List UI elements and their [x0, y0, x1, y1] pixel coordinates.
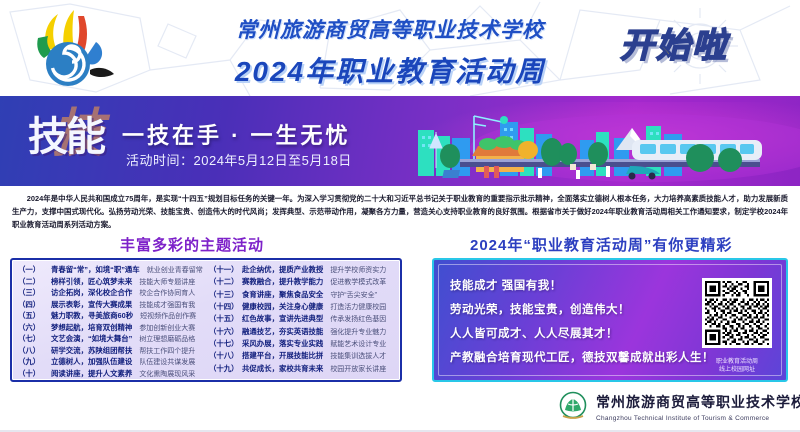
qr-caption: 职业教育活动周 线上校园网址 — [702, 358, 772, 374]
activity-index: （二） — [18, 277, 48, 288]
school-name: 常州旅游商贸高等职业技术学校 — [180, 14, 600, 44]
activity-item: （十五）红色故事，宣讲先进典型传承发扬红色基因 — [209, 314, 394, 326]
qr-block[interactable]: 职业教育活动周 线上校园网址 — [702, 278, 772, 374]
activity-title: 梦想起航，培育双创精神 — [51, 323, 132, 334]
activity-title: 阅读讲座，提升人文素养 — [51, 369, 132, 380]
activities-column-left: （一）青春留“常”，如境“职”通车就业创业青春留常（二）榜样引领，匠心筑梦未来技… — [18, 265, 203, 375]
footer: 常州旅游商贸高等职业技术学校 Changzhou Technical Insti… — [0, 384, 800, 432]
slogan-line: 产教融合培育现代工匠，德技双馨成就出彩人生！ — [450, 346, 680, 370]
activity-title: 榜样引领，匠心筑梦未来 — [51, 277, 132, 288]
activity-subtitle: 促进教学模式改革 — [330, 278, 386, 289]
activities-column-right: （十一）赴企纳优，提质产业教授提升学校师资实力（十二）赛教融合，提升教学能力促进… — [209, 265, 394, 375]
header: 常州旅游商贸高等职业技术学校 2024年职业教育活动周 开始啦 — [0, 0, 800, 96]
banner-date: 活动时间：2024年5月12日至5月18日 — [126, 150, 352, 169]
activity-title: 共促成长，家校共育未来 — [242, 364, 323, 375]
activity-title: 文艺会演，“如境大舞台” — [51, 334, 132, 345]
activity-subtitle: 队伍建设共谋发展 — [139, 358, 195, 369]
skill-badge: 技 技能 — [24, 104, 132, 182]
activity-item: （十九）共促成长，家校共育未来校园开放家长讲座 — [209, 364, 394, 376]
qr-caption-line2: 线上校园网址 — [702, 366, 772, 374]
activity-item: （一）青春留“常”，如境“职”通车就业创业青春留常 — [18, 265, 203, 277]
activity-index: （四） — [18, 300, 48, 311]
activity-item: （八）研学交流，苏陕组团帮扶帮扶工作四个提升 — [18, 346, 203, 358]
activity-title: 立德树人，加强队伍建设 — [51, 357, 132, 368]
footer-school-name-en: Changzhou Technical Institute of Tourism… — [596, 415, 800, 422]
skill-badge-text: 技能 — [28, 118, 104, 156]
activity-index: （五） — [18, 311, 48, 322]
activity-subtitle: 树立理想磨砺品格 — [139, 335, 195, 346]
start-badge: 开始啦 — [620, 18, 728, 67]
activity-title: 展示表彰，宣传大赛成果 — [51, 300, 132, 311]
event-title: 2024年职业教育活动周 — [180, 50, 600, 90]
activity-title: 青春留“常”，如境“职”通车 — [51, 265, 140, 276]
activity-item: （七）文艺会演，“如境大舞台”树立理想磨砺品格 — [18, 334, 203, 346]
poster-root: 常州旅游商贸高等职业技术学校 2024年职业教育活动周 开始啦 技 技能 一技在… — [0, 0, 800, 432]
activity-subtitle: 校企合作协同育人 — [139, 289, 195, 300]
activity-item: （十八）搭建平台，开展技能比拼技能集训选拔人才 — [209, 351, 394, 363]
activity-subtitle: 技能大师专题讲座 — [139, 278, 195, 289]
activity-subtitle: 校园开放家长讲座 — [330, 365, 386, 376]
activity-subtitle: 帮扶工作四个提升 — [139, 347, 195, 358]
slogan-line: 劳动光荣，技能宝贵，创造伟大！ — [450, 298, 680, 322]
activity-item: （十七）采风办展，落实专业实践赋能艺术设计专业 — [209, 339, 394, 351]
activity-item: （十三）食育讲座，聚焦食品安全守护“舌尖安全” — [209, 290, 394, 302]
activity-item: （九）立德树人，加强队伍建设队伍建设共谋发展 — [18, 357, 203, 369]
qr-code-icon[interactable] — [702, 278, 772, 348]
activity-item: （十）阅读讲座，提升人文素养文化熏陶展现风采 — [18, 369, 203, 381]
activity-item: （三）访企拓岗，深化校企合作校企合作协同育人 — [18, 288, 203, 300]
header-titles: 常州旅游商贸高等职业技术学校 2024年职业教育活动周 — [180, 14, 600, 90]
activity-index: （十五） — [209, 314, 239, 325]
slogan-line: 技能成才 强国有我！ — [450, 274, 680, 298]
activity-subtitle: 短视频作品创作赛 — [140, 312, 196, 323]
activity-item: （五）魅力职教，寻美旅商60秒短视频作品创作赛 — [18, 311, 203, 323]
activity-subtitle: 技能集训选拔人才 — [330, 352, 386, 363]
right-section-heading: 2024年“职业教育活动周”有你更精彩 — [470, 234, 732, 255]
activity-item: （四）展示表彰，宣传大赛成果技能成才强国有我 — [18, 300, 203, 312]
activity-title: 访企拓岗，深化校企合作 — [51, 288, 132, 299]
activity-subtitle: 强化提升专业魅力 — [330, 328, 386, 339]
activity-subtitle: 技能成才强国有我 — [139, 301, 195, 312]
activity-index: （十二） — [209, 277, 239, 288]
footer-school-name-cn: 常州旅游商贸高等职业技术学校 — [596, 392, 800, 412]
activity-title: 搭建平台，开展技能比拼 — [242, 351, 323, 362]
activity-subtitle: 传承发扬红色基因 — [330, 315, 386, 326]
hero-banner: 技 技能 一技在手 · 一生无忧 活动时间：2024年5月12日至5月18日 — [0, 96, 800, 186]
activity-subtitle: 参加创新创业大赛 — [139, 324, 195, 335]
activity-index: （三） — [18, 288, 48, 299]
colorful-hand-spiral-logo-icon — [22, 8, 126, 92]
city-skyline-train-illustration-icon — [400, 104, 800, 186]
slogan-line: 人人皆可成才、人人尽展其才！ — [450, 322, 680, 346]
activity-index: （一） — [18, 265, 48, 276]
activity-subtitle: 打造活力健康校园 — [330, 303, 386, 314]
activity-index: （六） — [18, 323, 48, 334]
activity-index: （十一） — [209, 265, 239, 276]
activity-index: （十） — [18, 369, 48, 380]
activities-list-box: （一）青春留“常”，如境“职”通车就业创业青春留常（二）榜样引领，匠心筑梦未来技… — [10, 258, 402, 382]
slogan-box: 技能成才 强国有我！劳动光荣，技能宝贵，创造伟大！人人皆可成才、人人尽展其才！产… — [432, 258, 788, 382]
activity-item: （十二）赛教融合，提升教学能力促进教学模式改革 — [209, 277, 394, 289]
intro-paragraph-block: 2024年是中华人民共和国成立75周年，是实现“十四五”规划目标任务的关键一年。… — [0, 186, 800, 234]
activity-subtitle: 提升学校师资实力 — [330, 266, 386, 277]
activity-title: 融通技艺，夯实英语技能 — [242, 327, 323, 338]
slogan-lines: 技能成才 强国有我！劳动光荣，技能宝贵，创造伟大！人人皆可成才、人人尽展其才！产… — [450, 274, 680, 370]
left-section-heading: 丰富多彩的主题活动 — [120, 234, 264, 255]
activity-index: （七） — [18, 334, 48, 345]
activity-subtitle: 赋能艺术设计专业 — [330, 340, 386, 351]
activity-title: 赴企纳优，提质产业教授 — [242, 265, 323, 276]
activity-index: （十四） — [209, 302, 239, 313]
school-emblem-icon — [556, 390, 590, 424]
activity-subtitle: 就业创业青春留常 — [147, 266, 203, 277]
activity-item: （二）榜样引领，匠心筑梦未来技能大师专题讲座 — [18, 277, 203, 289]
activity-title: 研学交流，苏陕组团帮扶 — [51, 346, 132, 357]
activity-title: 红色故事，宣讲先进典型 — [242, 314, 323, 325]
activity-item: （十六）融通技艺，夯实英语技能强化提升专业魅力 — [209, 327, 394, 339]
activity-index: （十九） — [209, 364, 239, 375]
activity-index: （八） — [18, 346, 48, 357]
content-area: 丰富多彩的主题活动 2024年“职业教育活动周”有你更精彩 （一）青春留“常”，… — [0, 232, 800, 384]
activity-title: 魅力职教，寻美旅商60秒 — [51, 311, 133, 322]
activity-title: 健康校园，关注身心健康 — [242, 302, 323, 313]
activity-index: （十八） — [209, 351, 239, 362]
qr-caption-line1: 职业教育活动周 — [702, 358, 772, 366]
banner-slogan: 一技在手 · 一生无忧 — [122, 118, 351, 150]
activity-item: （十四）健康校园，关注身心健康打造活力健康校园 — [209, 302, 394, 314]
activity-item: （六）梦想起航，培育双创精神参加创新创业大赛 — [18, 323, 203, 335]
activity-title: 赛教融合，提升教学能力 — [242, 277, 323, 288]
activity-index: （九） — [18, 357, 48, 368]
activity-index: （十六） — [209, 327, 239, 338]
activity-title: 采风办展，落实专业实践 — [242, 339, 323, 350]
activity-title: 食育讲座，聚焦食品安全 — [242, 290, 323, 301]
activity-subtitle: 文化熏陶展现风采 — [139, 370, 195, 381]
activity-index: （十七） — [209, 339, 239, 350]
footer-school-name-block: 常州旅游商贸高等职业技术学校 Changzhou Technical Insti… — [596, 392, 800, 422]
intro-paragraph: 2024年是中华人民共和国成立75周年，是实现“十四五”规划目标任务的关键一年。… — [12, 192, 788, 231]
activity-item: （十一）赴企纳优，提质产业教授提升学校师资实力 — [209, 265, 394, 277]
activity-index: （十三） — [209, 290, 239, 301]
activity-subtitle: 守护“舌尖安全” — [330, 291, 377, 302]
